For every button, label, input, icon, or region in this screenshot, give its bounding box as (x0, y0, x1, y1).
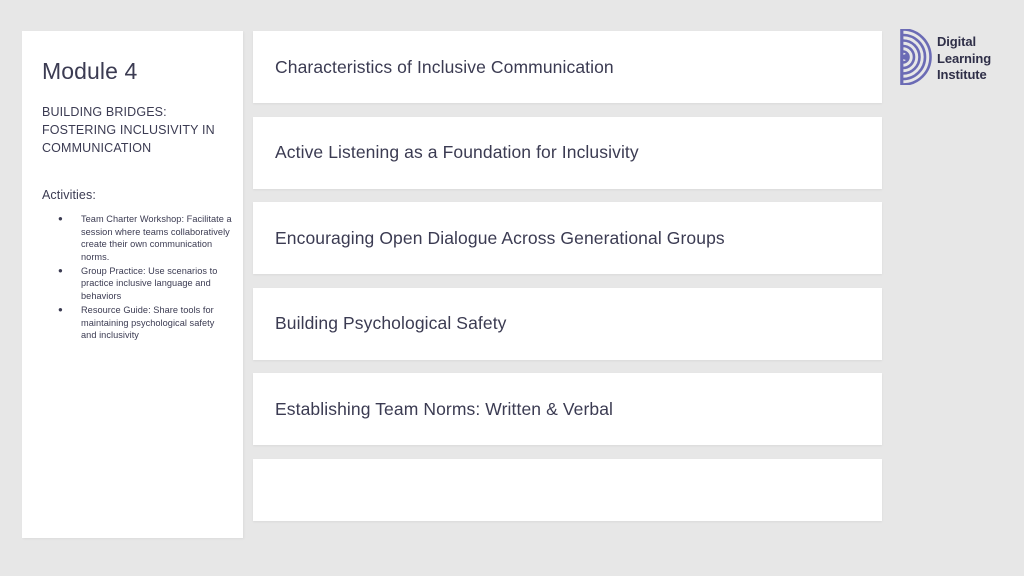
list-item: ● Team Charter Workshop: Facilitate a se… (42, 213, 232, 264)
bullet-icon: ● (58, 213, 63, 225)
logo-line-3: Institute (937, 67, 991, 84)
bullet-icon: ● (58, 265, 63, 277)
brand-logo: Digital Learning Institute (897, 27, 1017, 89)
topic-card-label: Establishing Team Norms: Written & Verba… (253, 399, 613, 420)
activities-list: ● Team Charter Workshop: Facilitate a se… (42, 213, 232, 343)
module-info-panel: Module 4 BUILDING BRIDGES: FOSTERING INC… (22, 31, 243, 538)
topic-card[interactable]: Characteristics of Inclusive Communicati… (253, 31, 882, 103)
slide-canvas: Module 4 BUILDING BRIDGES: FOSTERING INC… (0, 0, 1024, 576)
page-title: Module 4 (42, 58, 137, 84)
topic-card-label: Characteristics of Inclusive Communicati… (253, 57, 614, 78)
logo-wordmark: Digital Learning Institute (937, 34, 991, 84)
activity-text: Resource Guide: Share tools for maintain… (81, 305, 214, 340)
topic-card-empty[interactable] (253, 459, 882, 521)
topic-card-label: Active Listening as a Foundation for Inc… (253, 142, 639, 163)
module-subtitle: BUILDING BRIDGES: FOSTERING INCLUSIVITY … (42, 103, 222, 157)
concentric-arcs-icon (897, 29, 935, 85)
activities-label: Activities: (42, 188, 96, 202)
topic-card-label: Encouraging Open Dialogue Across Generat… (253, 228, 725, 249)
topic-card-list: Characteristics of Inclusive Communicati… (253, 31, 882, 534)
topic-card[interactable]: Encouraging Open Dialogue Across Generat… (253, 202, 882, 274)
activity-text: Group Practice: Use scenarios to practic… (81, 266, 217, 301)
topic-card[interactable]: Active Listening as a Foundation for Inc… (253, 117, 882, 189)
topic-card[interactable]: Establishing Team Norms: Written & Verba… (253, 373, 882, 445)
activity-text: Team Charter Workshop: Facilitate a sess… (81, 214, 232, 262)
topic-card[interactable]: Building Psychological Safety (253, 288, 882, 360)
bullet-icon: ● (58, 304, 63, 316)
logo-line-1: Digital (937, 34, 991, 51)
list-item: ● Group Practice: Use scenarios to pract… (42, 265, 232, 303)
logo-line-2: Learning (937, 51, 991, 68)
list-item: ● Resource Guide: Share tools for mainta… (42, 304, 232, 342)
topic-card-label: Building Psychological Safety (253, 313, 507, 334)
